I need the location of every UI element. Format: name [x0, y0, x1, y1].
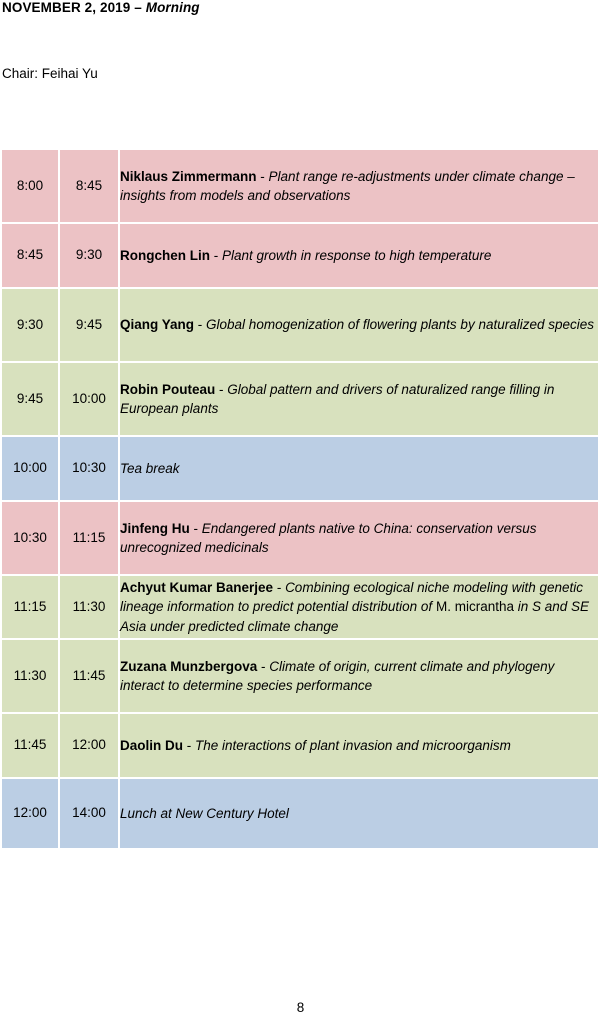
cell-start-time: 8:00	[2, 150, 60, 224]
speaker-separator: -	[257, 169, 269, 184]
speaker-name: Qiang Yang	[120, 317, 194, 332]
speaker-separator: -	[194, 317, 206, 332]
speaker-name: Robin Pouteau	[120, 382, 215, 397]
speaker-name: Achyut Kumar Banerjee	[120, 580, 273, 595]
page-title-date: NOVEMBER 2, 2019 –	[2, 0, 146, 15]
document-page: NOVEMBER 2, 2019 – Morning Chair: Feihai…	[0, 0, 601, 1024]
cell-start-time: 12:00	[2, 779, 60, 850]
cell-session: Niklaus Zimmermann - Plant range re-adju…	[120, 150, 598, 224]
table-row: 8:00 8:45 Niklaus Zimmermann - Plant ran…	[2, 150, 598, 224]
table-row: 8:45 9:30 Rongchen Lin - Plant growth in…	[2, 224, 598, 289]
cell-end-time: 14:00	[60, 779, 120, 850]
session-title: Lunch at New Century Hotel	[120, 806, 289, 821]
cell-session: Achyut Kumar Banerjee - Combining ecolog…	[120, 576, 598, 640]
session-title: Global homogenization of flowering plant…	[206, 317, 594, 332]
table-row: 12:00 14:00 Lunch at New Century Hotel	[2, 779, 598, 850]
cell-session: Daolin Du - The interactions of plant in…	[120, 714, 598, 779]
table-row: 11:45 12:00 Daolin Du - The interactions…	[2, 714, 598, 779]
cell-session: Qiang Yang - Global homogenization of fl…	[120, 289, 598, 363]
session-title: Tea break	[120, 461, 180, 476]
cell-start-time: 9:30	[2, 289, 60, 363]
cell-end-time: 11:45	[60, 640, 120, 714]
cell-session: Lunch at New Century Hotel	[120, 779, 598, 850]
cell-end-time: 9:45	[60, 289, 120, 363]
table-row: 11:15 11:30 Achyut Kumar Banerjee - Comb…	[2, 576, 598, 640]
table-row: 10:30 11:15 Jinfeng Hu - Endangered plan…	[2, 502, 598, 576]
page-title-session: Morning	[146, 0, 200, 15]
session-chair: Chair: Feihai Yu	[2, 66, 98, 81]
speaker-name: Zuzana Munzbergova	[120, 659, 257, 674]
page-title: NOVEMBER 2, 2019 – Morning	[2, 0, 200, 15]
cell-end-time: 10:30	[60, 437, 120, 502]
cell-session: Rongchen Lin - Plant growth in response …	[120, 224, 598, 289]
page-number: 8	[0, 1000, 601, 1015]
speaker-name: Daolin Du	[120, 738, 183, 753]
cell-end-time: 9:30	[60, 224, 120, 289]
cell-start-time: 11:45	[2, 714, 60, 779]
speaker-name: Niklaus Zimmermann	[120, 169, 257, 184]
table-row: 11:30 11:45 Zuzana Munzbergova - Climate…	[2, 640, 598, 714]
speaker-separator: -	[210, 248, 222, 263]
table-row: 10:00 10:30 Tea break	[2, 437, 598, 502]
session-title: The interactions of plant invasion and m…	[195, 738, 511, 753]
cell-session: Jinfeng Hu - Endangered plants native to…	[120, 502, 598, 576]
species-name: M. micrantha	[436, 599, 514, 614]
cell-session: Tea break	[120, 437, 598, 502]
cell-end-time: 11:15	[60, 502, 120, 576]
cell-start-time: 10:30	[2, 502, 60, 576]
cell-end-time: 10:00	[60, 363, 120, 437]
table-row: 9:45 10:00 Robin Pouteau - Global patter…	[2, 363, 598, 437]
schedule-table-body: 8:00 8:45 Niklaus Zimmermann - Plant ran…	[2, 150, 598, 850]
speaker-separator: -	[273, 580, 285, 595]
cell-start-time: 9:45	[2, 363, 60, 437]
cell-start-time: 8:45	[2, 224, 60, 289]
speaker-separator: -	[183, 738, 195, 753]
speaker-separator: -	[257, 659, 269, 674]
cell-session: Zuzana Munzbergova - Climate of origin, …	[120, 640, 598, 714]
cell-end-time: 8:45	[60, 150, 120, 224]
cell-start-time: 11:30	[2, 640, 60, 714]
speaker-separator: -	[215, 382, 227, 397]
speaker-name: Jinfeng Hu	[120, 521, 190, 536]
cell-end-time: 12:00	[60, 714, 120, 779]
cell-end-time: 11:30	[60, 576, 120, 640]
table-row: 9:30 9:45 Qiang Yang - Global homogeniza…	[2, 289, 598, 363]
cell-start-time: 11:15	[2, 576, 60, 640]
cell-start-time: 10:00	[2, 437, 60, 502]
session-title: Plant growth in response to high tempera…	[222, 248, 491, 263]
speaker-name: Rongchen Lin	[120, 248, 210, 263]
speaker-separator: -	[190, 521, 202, 536]
schedule-table: 8:00 8:45 Niklaus Zimmermann - Plant ran…	[2, 150, 598, 850]
cell-session: Robin Pouteau - Global pattern and drive…	[120, 363, 598, 437]
